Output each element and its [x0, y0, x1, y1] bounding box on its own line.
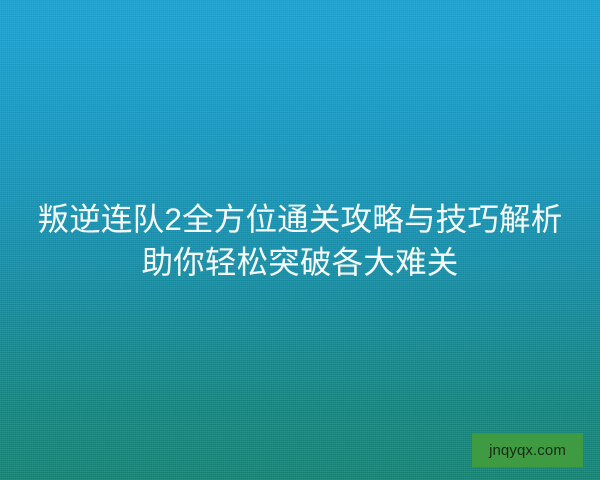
watermark-label: jnqyqx.com: [489, 443, 566, 458]
watermark-badge: jnqyqx.com: [472, 433, 583, 467]
banner-image: 叛逆连队2全方位通关攻略与技巧解析助你轻松突破各大难关 jnqyqx.com: [0, 0, 600, 480]
banner-headline: 叛逆连队2全方位通关攻略与技巧解析助你轻松突破各大难关: [0, 198, 600, 284]
